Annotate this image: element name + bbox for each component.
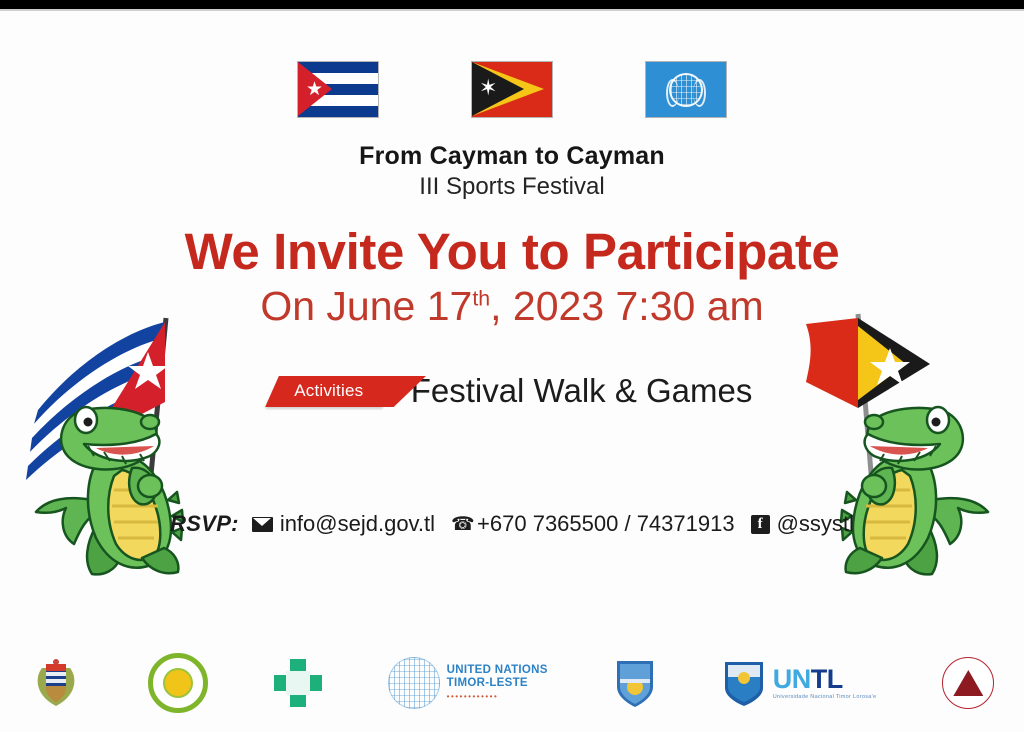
phone-icon: ☎ [451, 515, 470, 534]
invitation-headline: We Invite You to Participate [0, 222, 1024, 281]
activities-badge-label: Activities [294, 381, 363, 401]
activities-badge: Activities [265, 376, 396, 407]
rsvp-label: RSVP: [170, 511, 239, 537]
ministry-of-health-logo [274, 659, 322, 707]
untl-logo: UNTL Universidade Nacional Timor Lorosa'… [722, 658, 877, 708]
envelope-icon [252, 517, 273, 532]
top-letterbox-edge [0, 9, 1024, 11]
top-letterbox-bar [0, 0, 1024, 9]
cuba-flag-icon: ★ [298, 62, 378, 117]
activities-row: Activities Festival Walk & Games [0, 372, 1024, 410]
united-nations-timor-leste-logo: UNITED NATIONS TIMOR-LESTE •••••••••••• [388, 657, 548, 709]
un-tl-dots: •••••••••••• [447, 693, 548, 702]
rsvp-facebook-text: @ssystl [777, 511, 854, 537]
rsvp-phone-text: +670 7365500 / 74371913 [477, 511, 735, 537]
event-poster: ★ ✶ From Cayman to Cayman III Sports Fes… [0, 0, 1024, 732]
ministry-of-education-logo [148, 653, 208, 713]
sponsor-logo-row: UNITED NATIONS TIMOR-LESTE •••••••••••• [0, 652, 1024, 714]
activities-description: Festival Walk & Games [411, 372, 753, 410]
rsvp-facebook[interactable]: f @ssystl [751, 511, 854, 537]
police-shield-logo [614, 657, 656, 709]
rsvp-line: RSVP: info@sejd.gov.tl ☎ +670 7365500 / … [0, 511, 1024, 537]
un-emblem-icon [388, 657, 440, 709]
un-tl-line2: TIMOR-LESTE [447, 677, 548, 690]
page-subtitle: III Sports Festival [0, 173, 1024, 201]
rsvp-email-text: info@sejd.gov.tl [280, 511, 435, 537]
untl-subtitle: Universidade Nacional Timor Lorosa'e [773, 695, 877, 701]
untl-word-tl: TL [811, 664, 843, 694]
date-ordinal-suffix: th [472, 286, 490, 310]
timor-leste-flag-icon: ✶ [472, 62, 552, 117]
crocodile-cuba-mascot [22, 300, 222, 590]
united-nations-flag-icon [646, 62, 726, 117]
defence-force-logo [942, 657, 994, 709]
flag-row: ★ ✶ [0, 62, 1024, 117]
cuba-coat-of-arms-logo [30, 656, 82, 710]
un-tl-line1: UNITED NATIONS [447, 664, 548, 677]
rsvp-phone[interactable]: ☎ +670 7365500 / 74371913 [451, 511, 735, 537]
rsvp-email[interactable]: info@sejd.gov.tl [252, 511, 435, 537]
facebook-icon: f [751, 515, 770, 534]
crocodile-timor-mascot [802, 300, 1002, 590]
event-date-suffix: , 2023 7:30 am [490, 283, 764, 329]
event-date-prefix: On June 17 [260, 283, 472, 329]
page-title: From Cayman to Cayman [0, 142, 1024, 171]
untl-word-un: UN [773, 664, 811, 694]
